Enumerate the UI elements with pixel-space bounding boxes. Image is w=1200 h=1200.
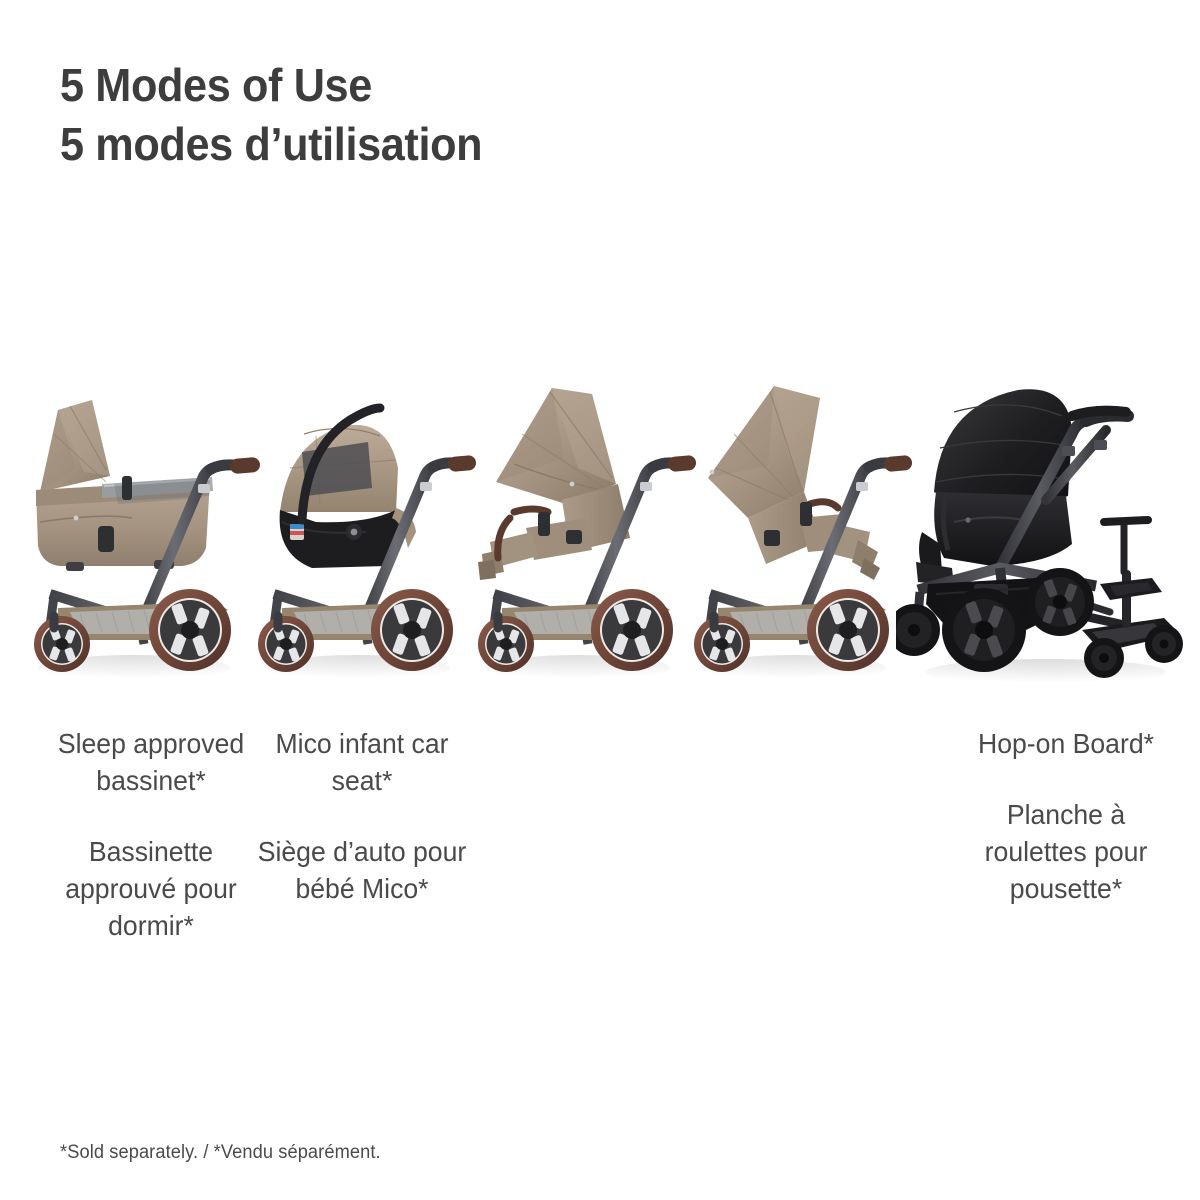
stroller-canopy: [496, 388, 616, 504]
caption-infant-car-seat: Mico infant car seat* Siège d’auto pour …: [254, 726, 471, 908]
caption-infant-car-seat-en: Mico infant car seat*: [254, 726, 471, 800]
caption-seat-parent-facing: [474, 726, 691, 760]
caption-bassinet-fr: Bassinette approuvé pour dormir*: [46, 834, 257, 945]
page-root: 5 Modes of Use 5 modes d’utilisation: [0, 0, 1200, 1200]
page-title: 5 Modes of Use 5 modes d’utilisation: [60, 56, 960, 174]
front-wheel: [694, 616, 750, 672]
product-image-bassinet: [14, 372, 264, 692]
caption-infant-car-seat-fr: Siège d’auto pour bébé Mico*: [254, 834, 471, 908]
bassinet-hood: [40, 400, 110, 492]
caption-bassinet: Sleep approved bassinet* Bassinette appr…: [46, 726, 257, 945]
caption-hop-on-board-en: Hop-on Board*: [958, 726, 1175, 763]
rear-wheel: [371, 589, 453, 671]
front-wheel: [34, 616, 90, 672]
product-image-infant-car-seat: [246, 372, 478, 692]
front-wheel: [478, 616, 534, 672]
title-line-fr: 5 modes d’utilisation: [60, 115, 906, 174]
title-line-en: 5 Modes of Use: [60, 56, 906, 115]
rear-wheel: [149, 589, 231, 671]
car-seat-canopy: [280, 425, 398, 512]
caption-hop-on-board: Hop-on Board* Planche à roulettes pour p…: [958, 726, 1175, 908]
rear-wheel: [591, 589, 673, 671]
rear-wheel: [807, 589, 889, 671]
caption-hop-on-board-fr: Planche à roulettes pour pousette*: [958, 797, 1175, 908]
product-image-strip: [0, 372, 1200, 692]
footnote: *Sold separately. / *Vendu séparément.: [60, 1142, 381, 1164]
product-image-seat-parent-facing: [466, 372, 698, 692]
board-seat-post: [1122, 570, 1131, 628]
caption-seat-world-facing: [690, 726, 907, 760]
caption-row: Sleep approved bassinet* Bassinette appr…: [0, 726, 1200, 1016]
bassinet-clamp: [98, 526, 114, 552]
rear-wheel-far: [1026, 568, 1094, 636]
front-wheel: [258, 616, 314, 672]
rear-wheel-near: [942, 588, 1026, 672]
product-image-seat-world-facing: [682, 372, 914, 692]
board-wheel-right: [1145, 625, 1183, 663]
caption-bassinet-en: Sleep approved bassinet*: [46, 726, 257, 800]
board-wheel-left: [1084, 638, 1124, 678]
product-image-hop-on-board: [896, 372, 1188, 692]
